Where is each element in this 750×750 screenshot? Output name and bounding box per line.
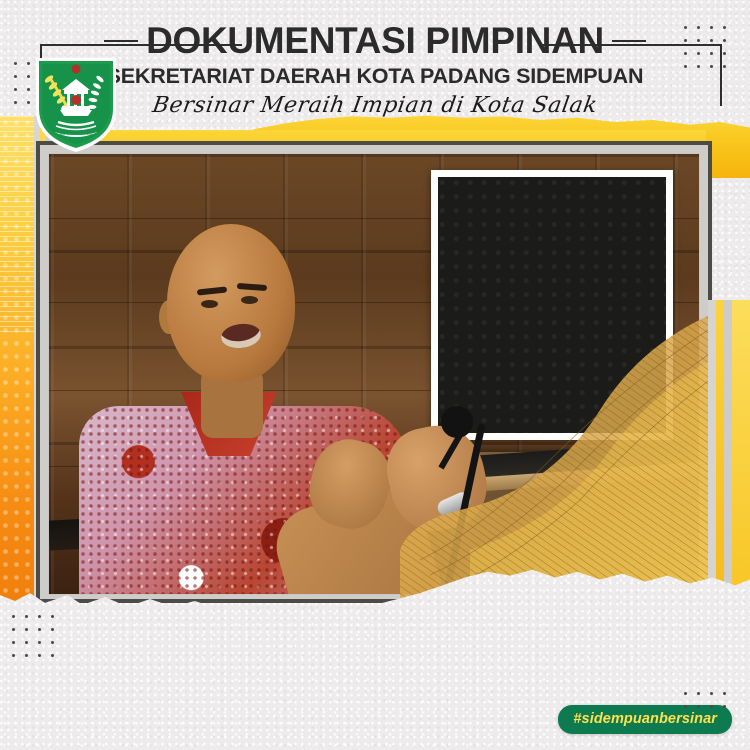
right-accent-strip-gray-2: [724, 300, 732, 600]
dot-grid-bottom-left: [12, 615, 54, 657]
head: [167, 224, 295, 382]
right-accent-strip-gray-1: [708, 300, 716, 600]
title-left-dash: [104, 40, 138, 42]
right-accent-strip-yellow-2: [732, 300, 750, 600]
dot-grid-bottom-right: [684, 692, 726, 708]
eye-left: [201, 300, 218, 308]
poster-canvas: KOTA PADANG DOKUMENTASI PIMPINAN SEKRETA…: [0, 0, 750, 750]
title-right-dash: [612, 40, 646, 42]
padang-sidempuan-city-emblem-icon: KOTA PADANG: [28, 52, 124, 156]
page-title: DOKUMENTASI PIMPINAN: [146, 22, 604, 59]
speaker-figure: [89, 196, 419, 595]
right-accent-strip-yellow-1: [716, 300, 724, 600]
microphone-head-icon: [441, 406, 473, 438]
blackboard: [431, 170, 673, 440]
eye-right: [241, 296, 258, 304]
svg-text:KOTA PADANG: KOTA PADANG: [60, 131, 93, 137]
hashtag-badge[interactable]: #sidempuanbersinar: [558, 705, 732, 734]
documentation-photo: [48, 153, 700, 595]
